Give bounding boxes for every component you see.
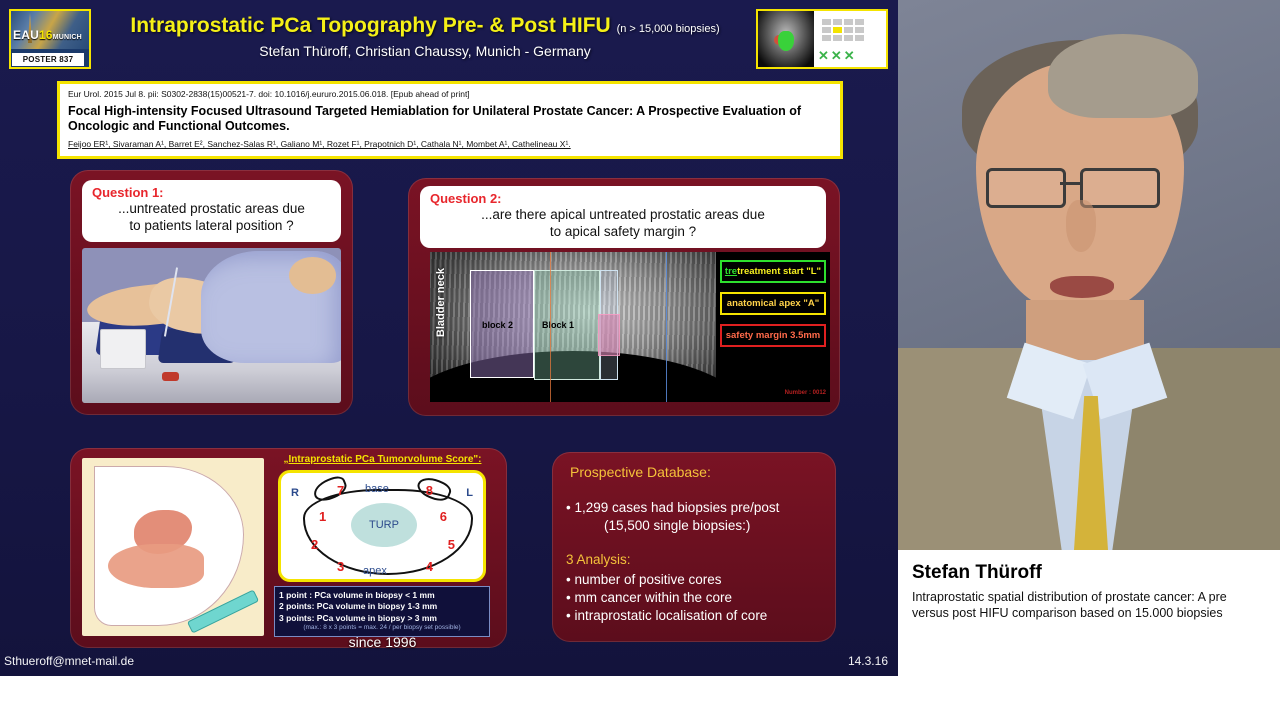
database-line-2: (15,500 single biopsies:)	[604, 518, 834, 534]
block-2-label: block 2	[482, 320, 513, 330]
safety-margin-region	[598, 314, 620, 356]
talk-title: Intraprostatic spatial distribution of p…	[912, 589, 1266, 621]
prospective-database-panel: Prospective Database: • 1,299 cases had …	[552, 452, 836, 642]
database-heading: Prospective Database:	[570, 464, 711, 480]
grid-cell	[844, 19, 853, 25]
citation-title: Focal High-intensity Focused Ultrasound …	[68, 104, 832, 135]
question-2-label: Question 2:	[430, 191, 816, 207]
question-2-line-1: ...are there apical untreated prostatic …	[430, 207, 816, 224]
callout-legend: tretreatment start "L" anatomical apex "…	[718, 252, 830, 402]
biopsy-score-panel: „Intraprostatic PCa Tumorvolume Score": …	[70, 448, 507, 648]
speaker-video[interactable]	[898, 0, 1280, 550]
question-2-panel: Question 2: ...are there apical untreate…	[408, 178, 840, 416]
speaker-hair-highlight	[1048, 34, 1198, 118]
patient-lateral-position-illustration	[82, 248, 341, 403]
sector-map-base-label: base	[365, 483, 389, 495]
callout-safety-margin-text: safety margin 3.5mm	[726, 330, 821, 341]
question-2-textbox: Question 2: ...are there apical untreate…	[420, 186, 826, 248]
grid-cell	[822, 35, 831, 41]
prostate-sector-map: TURP R L base apex 1 2 3 4 5 6 7 8	[278, 470, 486, 582]
score-legend-line-3: 3 points: PCa volume in biopsy > 3 mm	[279, 613, 485, 624]
eyeglasses-left-lens	[986, 168, 1066, 208]
speaker-mouth	[1050, 276, 1114, 298]
title-block: Intraprostatic PCa Topography Pre- & Pos…	[100, 14, 750, 59]
score-title: „Intraprostatic PCa Tumorvolume Score":	[270, 454, 495, 465]
analysis-item-3: • intraprostatic localisation of core	[566, 608, 767, 624]
eau-label: EAU	[13, 28, 39, 42]
slide-bottom-filler	[0, 676, 898, 720]
grid-cell	[833, 27, 842, 33]
grid-cell	[833, 19, 842, 25]
grid-mini	[822, 19, 864, 41]
slide-subtitle: Stefan Thüroff, Christian Chaussy, Munic…	[100, 43, 750, 59]
slide-header: EAU16MUNICH POSTER 837 Intraprostatic PC…	[0, 0, 898, 74]
grid-cell	[822, 19, 831, 25]
question-1-textbox: Question 1: ...untreated prostatic areas…	[82, 180, 341, 242]
slide-title: Intraprostatic PCa Topography Pre- & Pos…	[100, 14, 750, 37]
marker-line-orange	[550, 252, 551, 402]
biopsy-grid-thumbnail-icon: ✕✕✕	[814, 11, 886, 67]
transrectal-biopsy-illustration	[82, 458, 264, 636]
bladder-neck-label: Bladder neck	[435, 268, 447, 337]
question-1-label: Question 1:	[92, 185, 331, 201]
sector-number-1: 1	[319, 509, 326, 524]
citation-authors: Feijoo ER¹, Sivaraman A¹, Barret E², San…	[68, 139, 832, 150]
score-legend-line-1: 1 point : PCa volume in biopsy < 1 mm	[279, 590, 485, 601]
grid-cell	[855, 19, 864, 25]
callout-treatment-start-underline: tre	[725, 266, 737, 277]
sector-number-7: 7	[337, 483, 344, 498]
eyeglasses-bridge	[1060, 182, 1080, 185]
ultrasound-treatment-plan-image: Bladder neck block 2 Block 1 tretreatmen…	[430, 252, 830, 402]
callout-anatomical-apex: anatomical apex "A"	[720, 292, 826, 315]
speaker-nose	[1066, 200, 1096, 252]
callout-treatment-start: tretreatment start "L"	[720, 260, 826, 283]
grid-cell	[833, 35, 842, 41]
citation-journal-line: Eur Urol. 2015 Jul 8. pii: S0302-2838(15…	[68, 89, 832, 100]
eau-year: 16	[39, 28, 53, 42]
score-legend-fine-print: (max.: 8 x 3 points = max. 24 / per biop…	[279, 624, 485, 632]
rectum-organ	[108, 544, 204, 588]
eau-logo-text: EAU16MUNICH	[13, 29, 87, 41]
score-legend: 1 point : PCa volume in biopsy < 1 mm 2 …	[274, 586, 490, 637]
sector-number-2: 2	[311, 537, 318, 552]
question-1-line-1: ...untreated prostatic areas due	[92, 201, 331, 218]
sector-map-right-label: R	[291, 487, 299, 499]
screen: EAU16MUNICH POSTER 837 Intraprostatic PC…	[0, 0, 1280, 720]
sector-number-3: 3	[337, 559, 344, 574]
slide-title-text: Intraprostatic PCa Topography Pre- & Pos…	[130, 14, 610, 37]
sector-number-5: 5	[448, 537, 455, 552]
eyeglasses-right-lens	[1080, 168, 1160, 208]
analysis-heading: 3 Analysis:	[566, 552, 631, 568]
grid-cell	[855, 27, 864, 33]
marker-line-blue	[666, 252, 667, 402]
citation-card: Eur Urol. 2015 Jul 8. pii: S0302-2838(15…	[57, 81, 843, 159]
image-watermark: Number : 0012	[785, 390, 826, 396]
eau-congress-logo: EAU16MUNICH POSTER 837	[9, 9, 91, 69]
speaker-info-panel: Stefan Thüroff Intraprostatic spatial di…	[898, 550, 1280, 720]
hifu-probe-arm	[100, 329, 146, 370]
database-line-1: • 1,299 cases had biopsies pre/post	[566, 500, 826, 516]
grid-cell	[855, 35, 864, 41]
analysis-item-1: • number of positive cores	[566, 572, 722, 588]
callout-treatment-start-text: treatment start "L"	[737, 266, 821, 277]
speaker-name: Stefan Thüroff	[912, 562, 1266, 584]
prostate-map-icon: ✕✕✕	[818, 48, 857, 64]
question-1-line-2: to patients lateral position ?	[92, 218, 331, 235]
table-control-button	[162, 372, 179, 381]
slide-date: 14.3.16	[848, 654, 888, 668]
study-thumbnail-logo: ✕✕✕	[756, 9, 888, 69]
grid-cell	[844, 27, 853, 33]
tumorvolume-score-block: „Intraprostatic PCa Tumorvolume Score": …	[270, 454, 495, 642]
callout-safety-margin: safety margin 3.5mm	[720, 324, 826, 347]
sector-number-8: 8	[426, 483, 433, 498]
ultrasound-thumbnail-icon	[758, 11, 814, 67]
grid-cell	[844, 35, 853, 41]
analysis-item-2: • mm cancer within the core	[566, 590, 732, 606]
eau-city: MUNICH	[53, 34, 82, 41]
score-legend-line-2: 2 points: PCa volume in biopsy 1-3 mm	[279, 601, 485, 612]
ultrasound-scan: Bladder neck block 2 Block 1	[430, 252, 716, 402]
slide-title-note: (n > 15,000 biopsies)	[617, 23, 720, 35]
thumbnail-caption	[822, 12, 823, 17]
since-label: since 1996	[270, 634, 495, 650]
grid-cell	[822, 27, 831, 33]
sector-map-left-label: L	[466, 487, 473, 499]
question-1-panel: Question 1: ...untreated prostatic areas…	[70, 170, 353, 415]
contact-email: Sthueroff@mnet-mail.de	[4, 654, 134, 668]
sector-number-6: 6	[440, 509, 447, 524]
callout-anatomical-apex-text: anatomical apex "A"	[727, 298, 819, 309]
turp-zone-label: TURP	[351, 503, 417, 547]
poster-number: POSTER 837	[12, 53, 84, 66]
presentation-slide: EAU16MUNICH POSTER 837 Intraprostatic PC…	[0, 0, 898, 676]
sector-map-apex-label: apex	[363, 565, 387, 577]
block-1-label: Block 1	[542, 320, 574, 330]
question-2-line-2: to apical safety margin ?	[430, 224, 816, 241]
sector-number-4: 4	[426, 559, 433, 574]
